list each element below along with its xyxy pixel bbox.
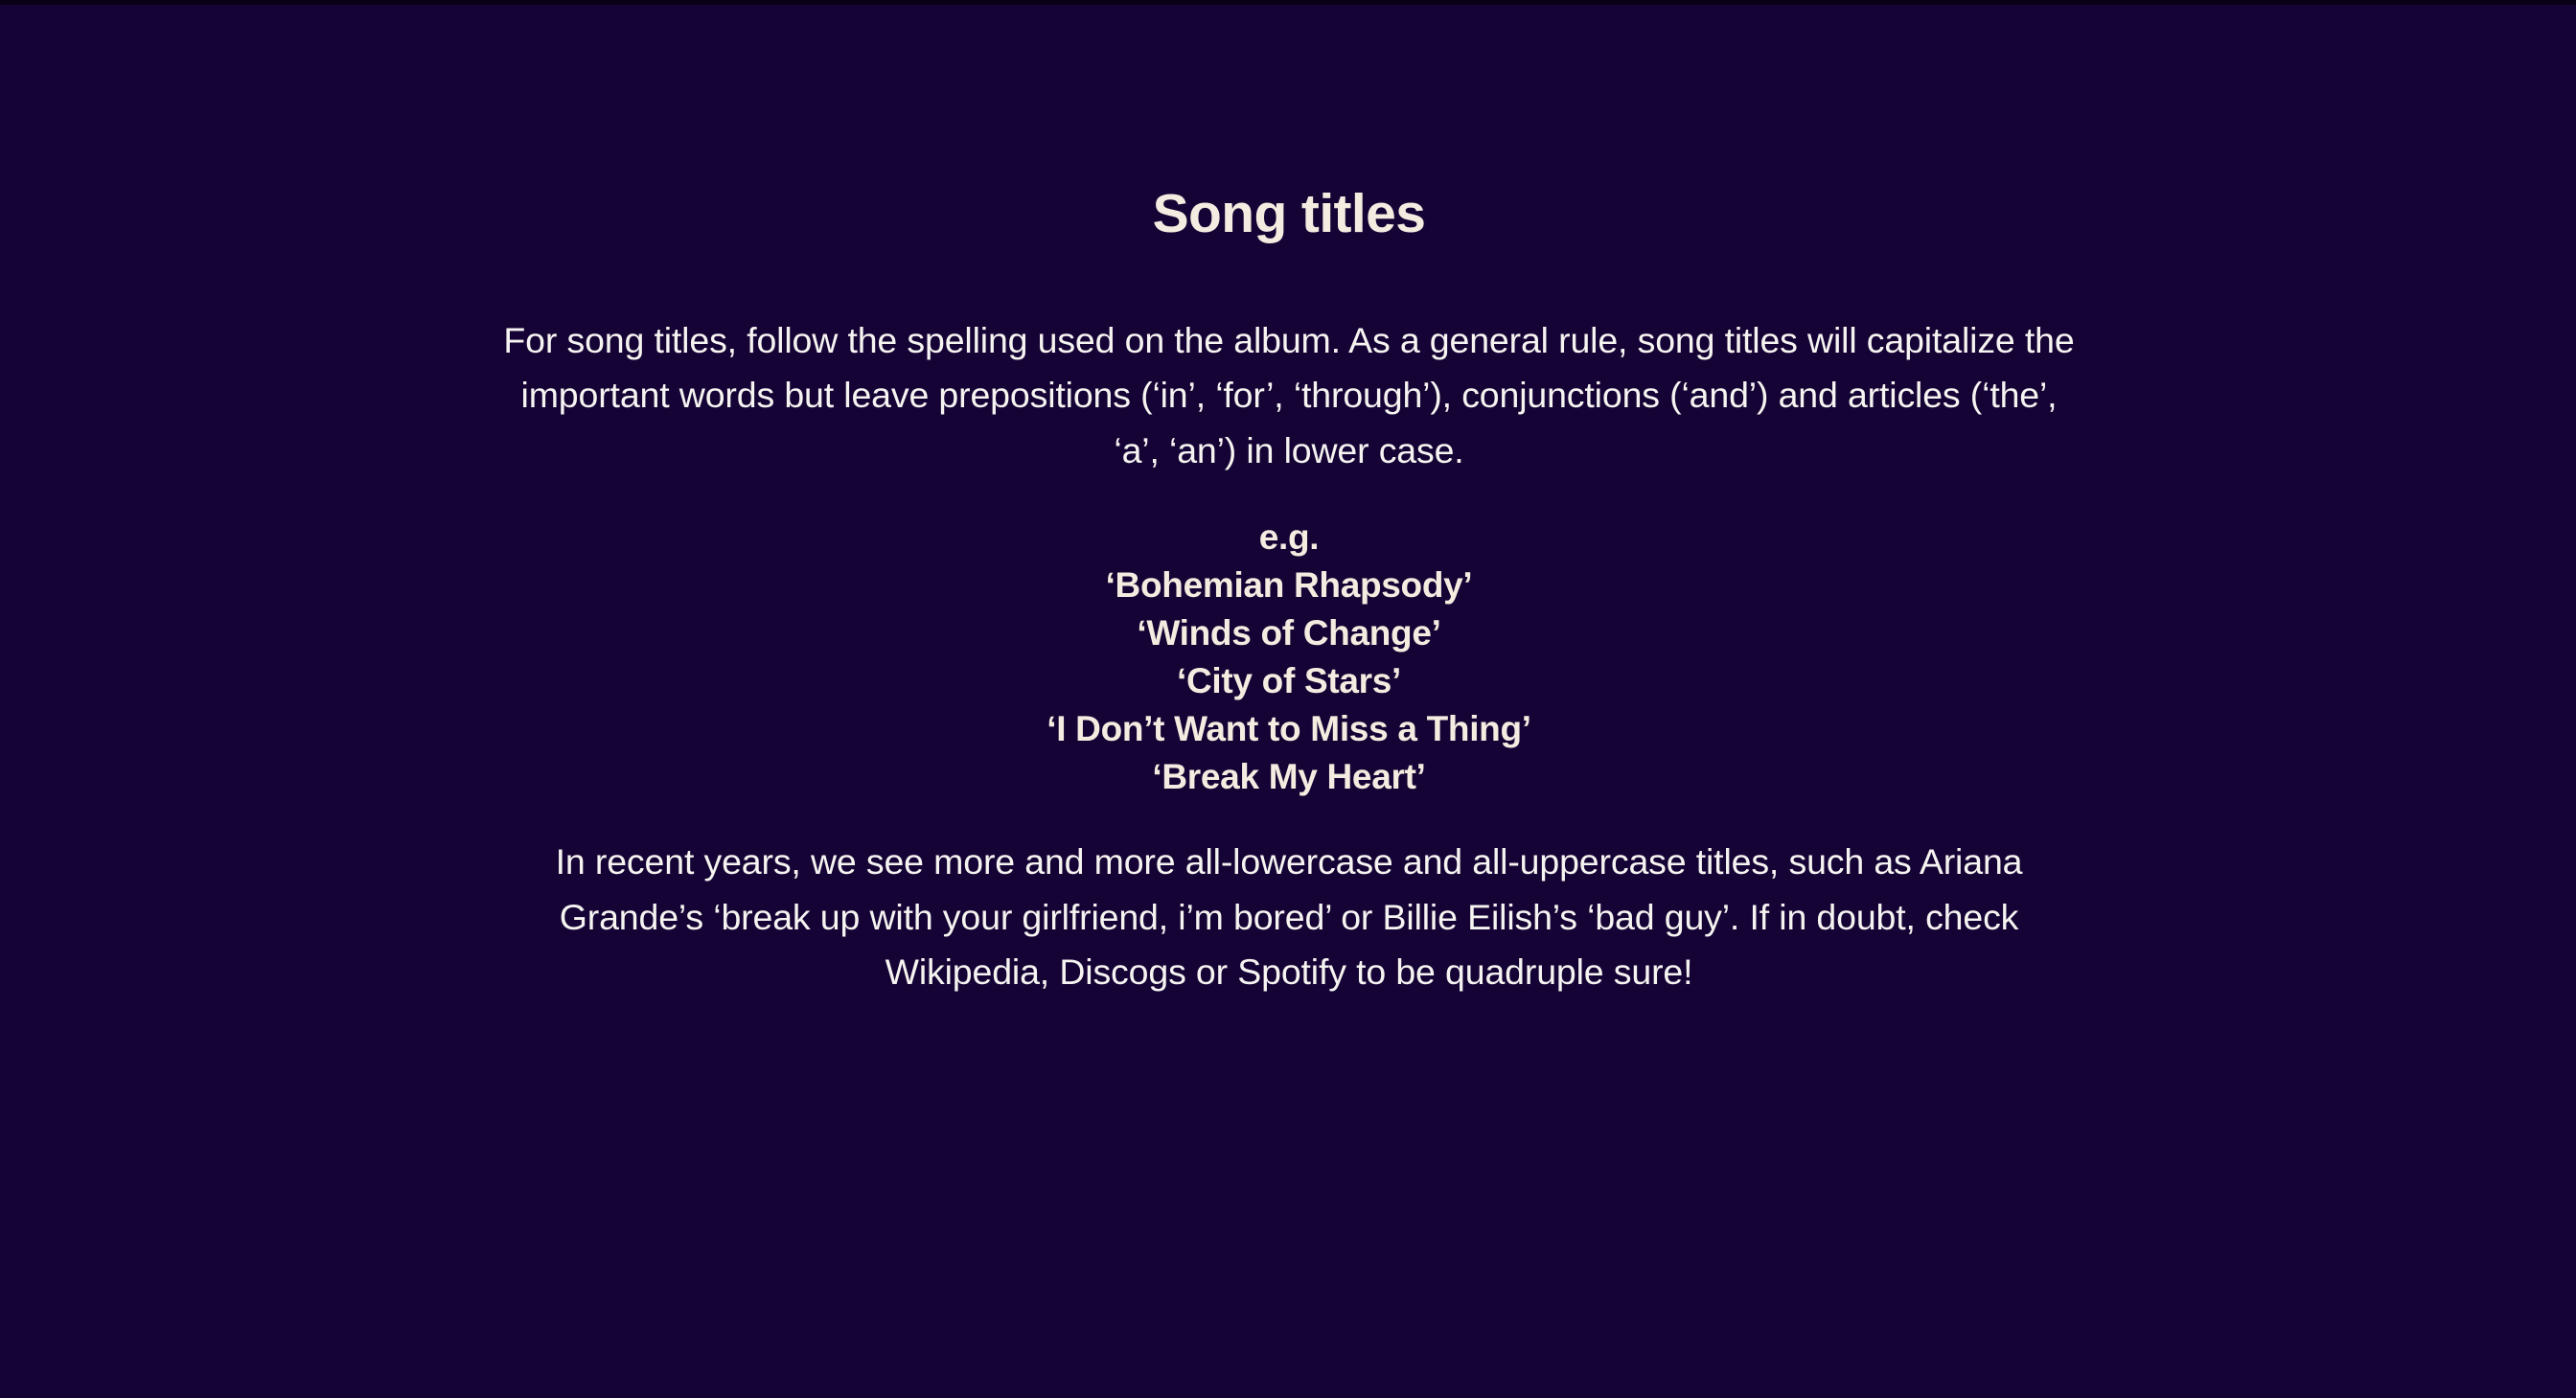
example-song-title: ‘I Don’t Want to Miss a Thing’	[1046, 705, 1531, 753]
slide-canvas: Song titles For song titles, follow the …	[0, 0, 2576, 1398]
outro-paragraph: In recent years, we see more and more al…	[503, 835, 2075, 1000]
example-song-title: ‘Bohemian Rhapsody’	[1106, 561, 1473, 609]
example-song-title: ‘City of Stars’	[1177, 657, 1401, 705]
example-song-title: ‘Break My Heart’	[1152, 753, 1425, 801]
slide-content: Song titles For song titles, follow the …	[494, 0, 2084, 1398]
examples-block: e.g. ‘Bohemian Rhapsody’ ‘Winds of Chang…	[1046, 514, 1531, 801]
page-title: Song titles	[1153, 184, 1426, 245]
examples-label: e.g.	[1259, 514, 1320, 561]
intro-paragraph: For song titles, follow the spelling use…	[503, 313, 2075, 479]
example-song-title: ‘Winds of Change’	[1137, 609, 1440, 657]
